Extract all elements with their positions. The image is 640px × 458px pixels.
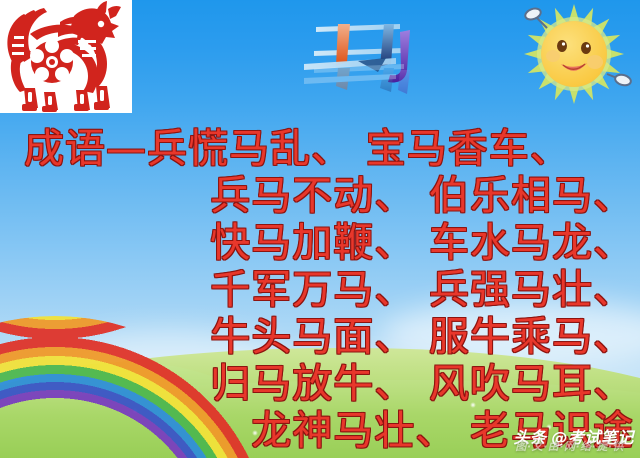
idiom-line: 牛头马面、 服牛乘马、 [0, 314, 634, 361]
ma-character-icon [300, 6, 425, 98]
sun-icon [513, 2, 635, 106]
watermark-subtext: 图·文·由·网·络·提·供 [515, 438, 624, 454]
idiom-line: 快马加鞭、 车水马龙、 [0, 220, 634, 267]
papercut-horse-icon [0, 0, 132, 113]
idiom-line: 千军万马、 兵强马壮、 [0, 267, 634, 314]
stylized-ma-character-art [300, 6, 425, 98]
watermark: 头条 @考试笔记 图·文·由·网·络·提·供 [513, 424, 634, 448]
smiling-sun-illustration [513, 2, 635, 106]
image-canvas: 成语—兵慌马乱、 宝马香车、 兵马不动、 伯乐相马、 快马加鞭、 车水马龙、 千… [0, 0, 640, 458]
idiom-text-block: 成语—兵慌马乱、 宝马香车、 兵马不动、 伯乐相马、 快马加鞭、 车水马龙、 千… [0, 126, 640, 455]
idiom-line: 兵马不动、 伯乐相马、 [0, 173, 634, 220]
idiom-line: 成语—兵慌马乱、 宝马香车、 [0, 126, 634, 173]
idiom-line: 归马放牛、 风吹马耳、 [0, 361, 634, 408]
papercut-horse-image [0, 0, 132, 113]
